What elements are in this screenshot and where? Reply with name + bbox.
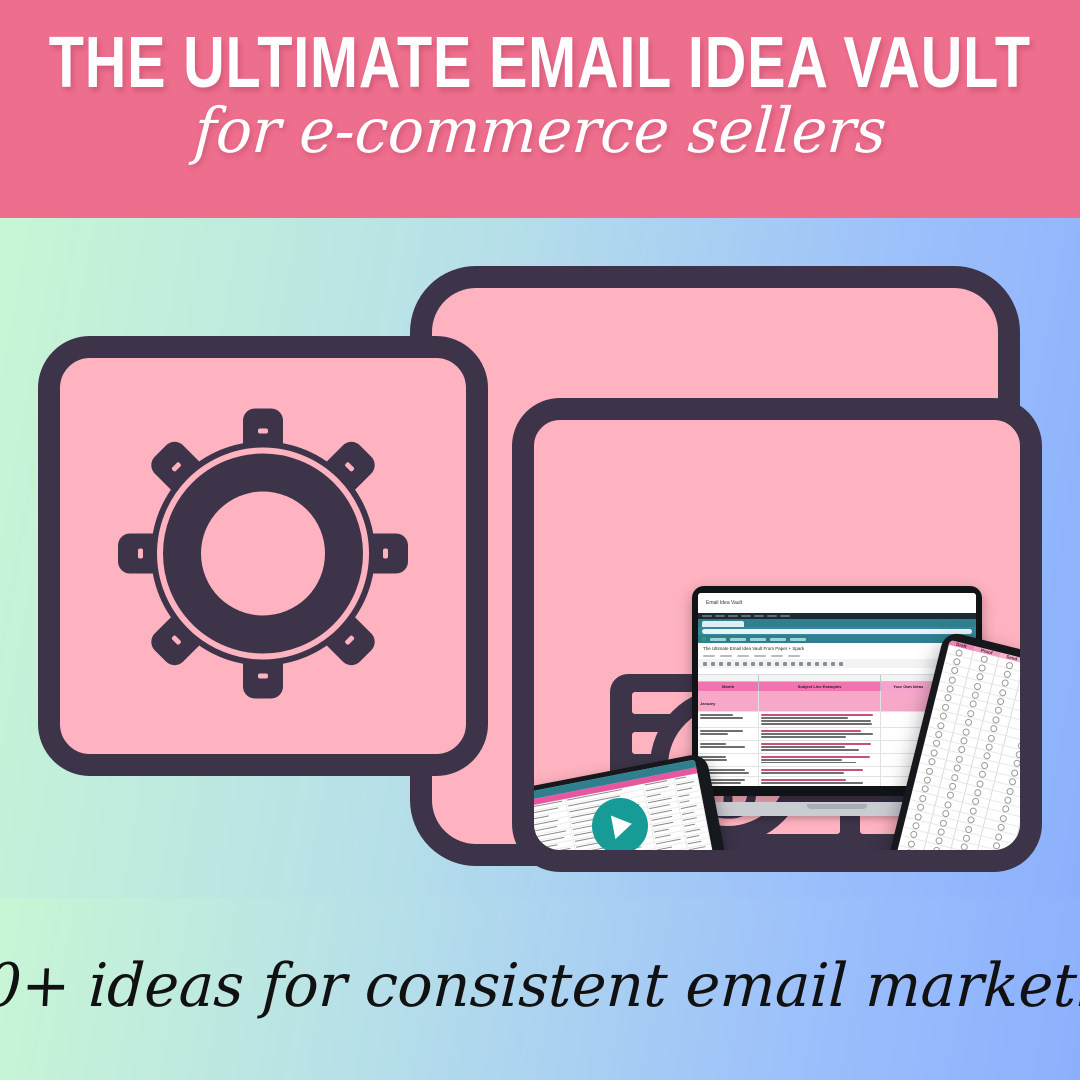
checkbox[interactable] (1008, 778, 1016, 786)
tablet-cell[interactable] (1037, 851, 1042, 866)
bookmark-item[interactable] (770, 638, 786, 641)
tablet-header-cell: Proof (974, 646, 1000, 657)
tablet-cell[interactable] (999, 755, 1035, 772)
checkbox[interactable] (1013, 759, 1021, 767)
tablet-cell[interactable] (945, 867, 971, 872)
checkbox[interactable] (1001, 679, 1009, 687)
checkbox[interactable] (1017, 741, 1025, 749)
checkbox[interactable] (905, 849, 913, 857)
os-menu-item (754, 615, 764, 617)
vault-body: Email Idea Vault (410, 266, 1020, 866)
phone-sheet-row (543, 850, 713, 872)
currency-icon[interactable] (743, 662, 747, 666)
bookmark-icon[interactable] (702, 637, 706, 641)
checkbox[interactable] (1020, 732, 1028, 740)
checkbox[interactable] (1029, 696, 1037, 704)
os-menu-item (715, 615, 725, 617)
tablet-cell[interactable] (1039, 842, 1042, 857)
phone-sheet-cell (658, 854, 689, 865)
link-icon[interactable] (815, 662, 819, 666)
comment-icon[interactable] (823, 662, 827, 666)
tagline: 100+ ideas for consistent email marketin… (0, 955, 1080, 1017)
text-line (533, 820, 558, 826)
text-line (537, 837, 564, 844)
tablet-cell[interactable] (1008, 718, 1042, 735)
checkbox[interactable] (1022, 723, 1030, 731)
spreadsheet-menu-bar[interactable] (698, 653, 976, 659)
text-line (582, 865, 641, 872)
checkbox[interactable] (1010, 769, 1018, 777)
menu-format[interactable] (771, 655, 783, 657)
align-icon[interactable] (799, 662, 803, 666)
menu-file[interactable] (703, 655, 715, 657)
tablet-cell[interactable] (919, 861, 945, 872)
tablet-cell[interactable] (997, 764, 1033, 781)
text-line (539, 848, 571, 855)
tablet-cell[interactable] (922, 851, 948, 866)
tablet-cell[interactable] (947, 858, 973, 872)
tablet-cell[interactable] (1036, 754, 1042, 769)
phone-sheet-cell (529, 799, 567, 811)
tablet-cell[interactable] (1020, 673, 1042, 690)
italic-icon[interactable] (767, 662, 771, 666)
tablet-cell[interactable] (1032, 869, 1042, 872)
checkbox[interactable] (1035, 668, 1042, 676)
tablet-cell[interactable] (1020, 818, 1042, 833)
page-subtitle: for e-commerce sellers (192, 96, 889, 166)
tablet-cell[interactable] (1011, 854, 1036, 869)
text-line (658, 850, 684, 856)
text-line (531, 807, 559, 814)
document-name-bar: Email Idea Vault (698, 593, 976, 613)
tablet-cell[interactable] (944, 654, 970, 669)
print-icon[interactable] (719, 662, 723, 666)
checkbox[interactable] (955, 648, 963, 656)
tablet-cell[interactable] (1031, 772, 1042, 787)
merge-icon[interactable] (791, 662, 795, 666)
menu-data[interactable] (788, 655, 800, 657)
checkbox[interactable] (990, 851, 998, 859)
tablet-cell[interactable] (997, 657, 1023, 672)
spreadsheet-title-bar: The Ultimate Email Idea Vault From Paper… (698, 643, 976, 653)
tablet-cell[interactable] (1015, 836, 1040, 851)
text-line (538, 844, 558, 849)
text-line (530, 801, 562, 808)
checkbox[interactable] (986, 869, 994, 872)
phone-sheet-cell (538, 846, 576, 858)
tablet-cell[interactable] (1035, 860, 1042, 872)
bookmark-item[interactable] (730, 638, 746, 641)
checkbox[interactable] (958, 852, 966, 860)
text-line (534, 826, 557, 832)
tablet-cell[interactable] (1006, 727, 1042, 744)
checkbox[interactable] (901, 867, 909, 872)
tablet-cell[interactable] (894, 854, 920, 869)
checkbox[interactable] (988, 860, 996, 868)
tablet-cell[interactable] (1009, 863, 1034, 872)
checkbox[interactable] (1004, 796, 1012, 804)
checkbox[interactable] (1031, 687, 1039, 695)
os-menu-item (728, 615, 738, 617)
checkbox[interactable] (999, 814, 1007, 822)
text-line (690, 852, 708, 857)
checkbox[interactable] (1006, 787, 1014, 795)
undo-icon[interactable] (703, 662, 707, 666)
phone-sheet-cell (689, 850, 714, 860)
phone-sheet-cell (537, 840, 575, 852)
zoom-control[interactable] (735, 662, 739, 666)
phone-sheet-cell (579, 854, 658, 872)
checkbox[interactable] (1003, 670, 1011, 678)
tablet-cell[interactable] (1013, 845, 1038, 860)
tablet-cell[interactable] (1018, 827, 1042, 842)
spreadsheet-toolbar[interactable] (698, 659, 976, 668)
bookmarks-bar[interactable] (698, 635, 976, 643)
checkbox[interactable] (956, 861, 964, 869)
checkbox[interactable] (928, 864, 936, 872)
tablet-header-cell: Draft (949, 640, 975, 651)
percent-icon[interactable] (751, 662, 755, 666)
tablet-cell[interactable] (946, 645, 972, 660)
os-menu-bar (698, 613, 976, 619)
tablet-cell[interactable] (1034, 763, 1042, 778)
phone-sheet-cell (542, 870, 580, 872)
phone-sheet-cell (534, 828, 572, 840)
vault-body-inner: Email Idea Vault (512, 398, 1042, 872)
redo-icon[interactable] (711, 662, 715, 666)
checkbox[interactable] (1015, 750, 1023, 758)
text-line (532, 815, 549, 820)
text-line (659, 858, 673, 862)
tablet-cell[interactable] (1041, 833, 1042, 848)
os-menu-item (767, 615, 777, 617)
tablet-column[interactable] (999, 672, 1042, 872)
tablet-cell[interactable] (1027, 791, 1042, 806)
tablet-cell[interactable] (974, 855, 1010, 872)
tablet-cell[interactable] (1022, 664, 1042, 681)
text-line (540, 854, 568, 861)
phone-sheet-cell (530, 805, 568, 817)
os-menu-item (702, 615, 712, 617)
url-input[interactable] (702, 629, 972, 634)
checkbox[interactable] (953, 657, 961, 665)
tablet-column[interactable] (1023, 678, 1042, 872)
checkbox[interactable] (954, 871, 962, 872)
fill-color-icon[interactable] (775, 662, 779, 666)
menu-edit[interactable] (720, 655, 732, 657)
new-tab-button[interactable] (746, 621, 754, 627)
checkbox[interactable] (1006, 661, 1014, 669)
bookmark-item[interactable] (710, 638, 726, 641)
header-band: THE ULTIMATE EMAIL IDEA VAULT for e-comm… (0, 0, 1080, 218)
page-title: THE ULTIMATE EMAIL IDEA VAULT (49, 24, 1031, 102)
phone-sheet-cell (541, 864, 579, 872)
filter-icon[interactable] (839, 662, 843, 666)
hero-stage: Email Idea Vault (0, 218, 1080, 898)
tablet-cell[interactable] (1002, 746, 1038, 763)
phone-sheet-cell (532, 817, 570, 829)
tablet-header-label: Proof (980, 648, 993, 656)
checkbox[interactable] (981, 655, 989, 663)
tablet-header-label: Draft (956, 642, 968, 649)
tablet-cell[interactable] (949, 849, 975, 864)
phone-sheet-cell (533, 822, 571, 834)
tablet-cell[interactable] (1011, 709, 1042, 726)
text-line (579, 851, 647, 865)
tablet-cell[interactable] (972, 651, 998, 666)
bold-icon[interactable] (759, 662, 763, 666)
money-icon (610, 674, 1000, 854)
tablet-cell[interactable] (1022, 809, 1042, 824)
tablet-header-label: Send (1006, 654, 1018, 662)
phone-sheet-cell (578, 849, 657, 869)
tablet-cell[interactable] (1024, 800, 1042, 815)
text-line (535, 830, 565, 837)
checkbox[interactable] (903, 858, 911, 866)
tablet-cell[interactable] (1017, 682, 1042, 699)
browser-tab[interactable] (702, 621, 744, 627)
text-line (541, 861, 566, 867)
checkbox[interactable] (1024, 714, 1032, 722)
wrap-icon[interactable] (807, 662, 811, 666)
vault-door (38, 336, 488, 776)
phone-sheet-cell (535, 834, 573, 846)
tablet-header-cell: Send (999, 652, 1025, 663)
tablet-cell[interactable] (1040, 736, 1042, 751)
poster-canvas: THE ULTIMATE EMAIL IDEA VAULT for e-comm… (0, 0, 1080, 1080)
bookmark-item[interactable] (790, 638, 806, 641)
borders-icon[interactable] (783, 662, 787, 666)
menu-view[interactable] (737, 655, 749, 657)
footer-band: 100+ ideas for consistent email marketin… (0, 898, 1080, 1080)
tablet-header-label: Re-Purpose (1028, 660, 1042, 671)
bookmark-item[interactable] (750, 638, 766, 641)
browser-tab-strip[interactable] (698, 619, 976, 627)
phone-sheet-cell (539, 852, 577, 864)
document-name: Email Idea Vault (706, 600, 742, 606)
tablet-cell[interactable] (1029, 781, 1042, 796)
tablet-cell[interactable] (917, 870, 943, 872)
checkbox[interactable] (978, 664, 986, 672)
tablet-header-cell: Re-Purpose (1024, 659, 1042, 672)
os-menu-item (780, 615, 790, 617)
os-menu-item (741, 615, 751, 617)
phone-sheet-cell (540, 858, 578, 870)
menu-insert[interactable] (754, 655, 766, 657)
text-line (542, 867, 566, 872)
chart-icon[interactable] (831, 662, 835, 666)
tablet-cell[interactable] (893, 863, 919, 872)
spreadsheet-title: The Ultimate Email Idea Vault From Paper… (703, 646, 804, 651)
tablet-cell[interactable] (1013, 700, 1042, 717)
checkbox[interactable] (1033, 677, 1041, 685)
phone-sheet-cell (581, 860, 660, 872)
tablet-cell[interactable] (1004, 736, 1040, 753)
text-line (581, 861, 629, 872)
checkbox[interactable] (1001, 805, 1009, 813)
phone-sheet-cell (531, 811, 569, 823)
browser-address-bar[interactable] (698, 627, 976, 635)
checkbox[interactable] (931, 855, 939, 863)
tablet-cell[interactable] (972, 864, 1008, 872)
tablet-cell[interactable] (995, 773, 1031, 790)
checkbox[interactable] (999, 688, 1007, 696)
tablet-cell[interactable] (1015, 691, 1042, 708)
checkbox[interactable] (1026, 705, 1034, 713)
paint-format-icon[interactable] (727, 662, 731, 666)
tablet-cell[interactable] (1038, 745, 1042, 760)
gear-icon (118, 409, 408, 704)
phone-sheet-cell (657, 849, 688, 860)
